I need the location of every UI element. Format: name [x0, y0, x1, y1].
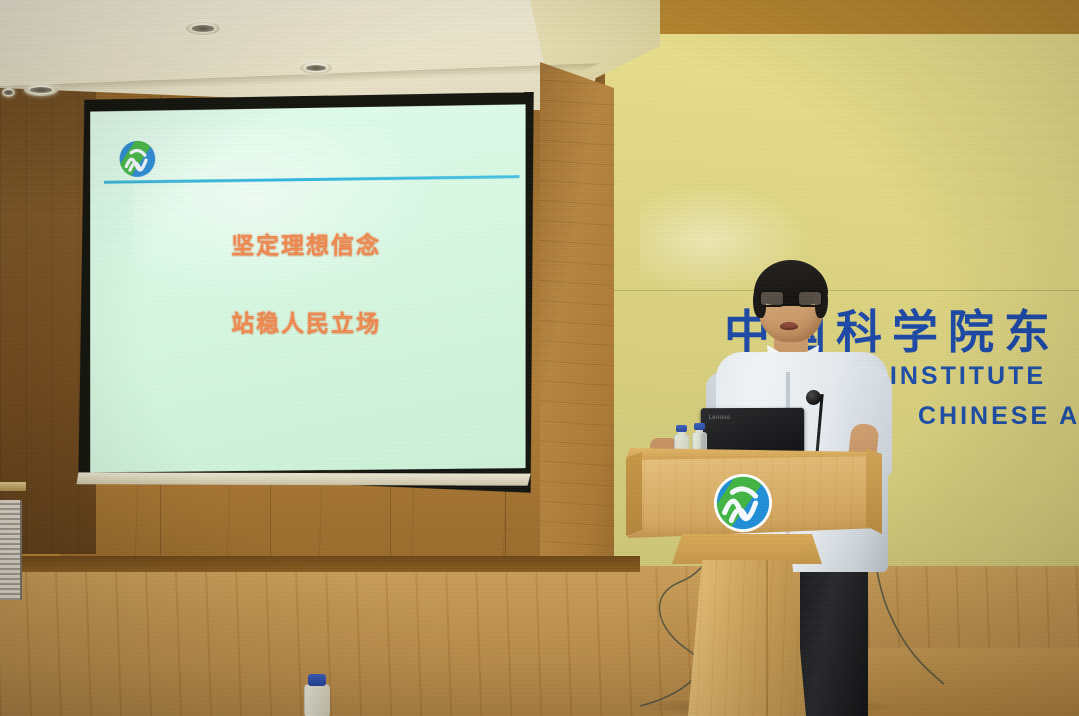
microphone-icon [806, 390, 821, 405]
glasses-icon [758, 290, 824, 307]
podium-base-edge [766, 560, 768, 716]
globe-logo [118, 139, 157, 179]
wall-ledge [0, 482, 26, 491]
speaker-mouth [780, 322, 798, 330]
ceiling-downlight [300, 62, 332, 74]
floor-skirting [0, 556, 640, 572]
slide-surface: 坚定理想信念 站稳人民立场 [90, 104, 525, 475]
wall-radiator [0, 500, 22, 600]
laptop-brand-label: Lenovo [709, 415, 731, 421]
wall-sign-english-line2: CHINESE A [918, 402, 1079, 431]
podium-left-side [626, 452, 642, 536]
projection-screen: 坚定理想信念 站稳人民立场 [76, 92, 537, 496]
globe-logo [712, 472, 774, 534]
ceiling-sprinkler [2, 88, 15, 97]
podium-neck [672, 534, 822, 564]
water-bottle [304, 672, 330, 716]
slide-line-2: 站稳人民立场 [90, 304, 525, 338]
slide-line-1: 坚定理想信念 [90, 225, 525, 260]
podium-base [688, 560, 806, 716]
ceiling-downlight [186, 22, 220, 35]
slide-text-block: 坚定理想信念 站稳人民立场 [90, 225, 525, 382]
conference-photo: 坚定理想信念 站稳人民立场 中国科学院东 ST INSTITUTE CHINES… [0, 0, 1079, 716]
podium-right-side [866, 448, 882, 534]
ceiling-downlight [24, 84, 58, 96]
